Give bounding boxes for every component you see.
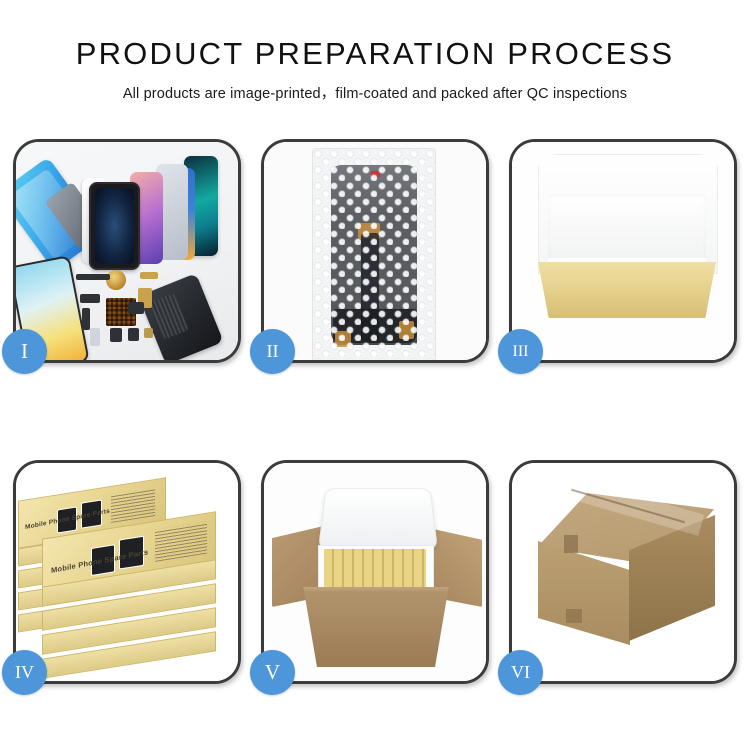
step-badge-5: V bbox=[250, 650, 295, 695]
black-screen-panel bbox=[89, 182, 140, 270]
process-step-panel-2[interactable]: II bbox=[261, 139, 489, 363]
camera-module-part bbox=[128, 302, 144, 314]
speaker-part bbox=[110, 328, 122, 342]
step-6-image bbox=[512, 463, 734, 681]
bubble-wrap-bag bbox=[312, 148, 436, 360]
step-badge-3: III bbox=[498, 329, 543, 374]
process-step-panel-3[interactable]: III bbox=[509, 139, 737, 363]
step-2-image bbox=[264, 142, 486, 360]
process-step-grid: I II bbox=[13, 139, 737, 684]
sim-tray-part bbox=[90, 328, 100, 346]
flex-cable-part-a bbox=[140, 272, 158, 279]
carton-tab-lower bbox=[566, 609, 582, 623]
process-step-panel-1[interactable]: I bbox=[13, 139, 241, 363]
small-connector-part bbox=[80, 294, 100, 303]
step-1-image bbox=[16, 142, 238, 360]
white-foam-sheet bbox=[548, 194, 706, 268]
copper-coil-part bbox=[106, 270, 126, 290]
foam-box-lid bbox=[318, 488, 438, 549]
screw-set-part bbox=[144, 328, 153, 338]
step-badge-2: II bbox=[250, 329, 295, 374]
carton-front-wall bbox=[304, 591, 448, 667]
step-badge-4: IV bbox=[2, 650, 47, 695]
bubble-texture bbox=[313, 149, 435, 360]
step-4-image: Mobile Phone Spare Parts Mobile Phone Sp… bbox=[16, 463, 238, 681]
earpiece-mesh-part bbox=[76, 274, 110, 280]
process-step-panel-4[interactable]: Mobile Phone Spare Parts Mobile Phone Sp… bbox=[13, 460, 241, 684]
process-step-panel-6[interactable]: VI bbox=[509, 460, 737, 684]
step-badge-6: VI bbox=[498, 650, 543, 695]
step-3-image bbox=[512, 142, 734, 360]
page-header: PRODUCT PREPARATION PROCESS All products… bbox=[0, 0, 750, 103]
step-badge-1: I bbox=[2, 329, 47, 374]
page-title: PRODUCT PREPARATION PROCESS bbox=[0, 0, 750, 71]
page-subtitle: All products are image-printed，film-coat… bbox=[0, 71, 750, 103]
bracket-part bbox=[82, 308, 90, 330]
kraft-box-tray bbox=[538, 262, 716, 318]
carton-tab-upper bbox=[564, 535, 578, 553]
vibrator-part bbox=[128, 328, 139, 341]
process-step-panel-5[interactable]: V bbox=[261, 460, 489, 684]
step-5-image bbox=[264, 463, 486, 681]
